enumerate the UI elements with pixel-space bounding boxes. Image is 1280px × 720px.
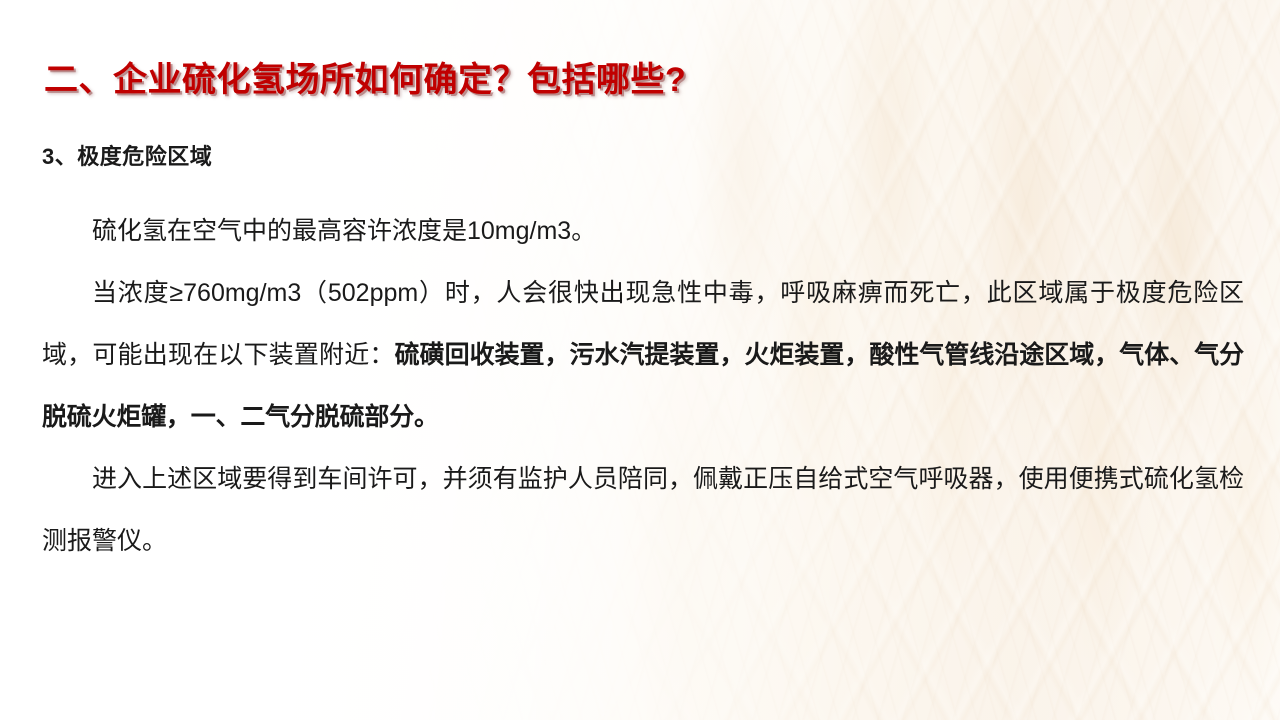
slide-title: 二、企业硫化氢场所如何确定？包括哪些? [44,52,686,101]
slide-body: 硫化氢在空气中的最高容许浓度是10mg/m3。 当浓度≥760mg/m3（502… [42,200,1244,572]
paragraph-extreme-danger-zone: 当浓度≥760mg/m3（502ppm）时，人会很快出现急性中毒，呼吸麻痹而死亡… [42,262,1244,448]
paragraph-max-allowable-concentration: 硫化氢在空气中的最高容许浓度是10mg/m3。 [42,200,1244,262]
section-heading: 3、极度危险区域 [42,139,212,171]
presentation-slide: 二、企业硫化氢场所如何确定？包括哪些? 3、极度危险区域 硫化氢在空气中的最高容… [0,0,1280,720]
slide-content: 二、企业硫化氢场所如何确定？包括哪些? 3、极度危险区域 硫化氢在空气中的最高容… [0,0,1280,720]
paragraph-entry-requirements: 进入上述区域要得到车间许可，并须有监护人员陪同，佩戴正压自给式空气呼吸器，使用便… [42,448,1244,572]
